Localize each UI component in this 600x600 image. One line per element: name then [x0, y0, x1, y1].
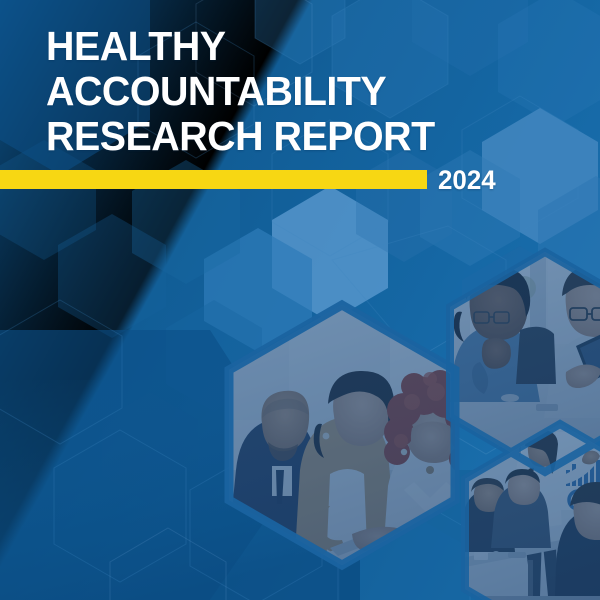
cover-title: HEALTHY ACCOUNTABILITY RESEARCH REPORT: [46, 24, 586, 159]
cover-year: 2024: [438, 167, 496, 194]
title-line-2: ACCOUNTABILITY: [46, 69, 564, 114]
report-cover: HEALTHY ACCOUNTABILITY RESEARCH REPORT 2…: [0, 0, 600, 600]
yellow-accent-bar: [0, 170, 427, 189]
title-line-3: RESEARCH REPORT: [46, 114, 564, 159]
photo-two-women-and-man-reviewing-tablet: [220, 295, 481, 588]
title-line-1: HEALTHY: [46, 24, 564, 69]
title-underline-row: 2024: [0, 168, 600, 190]
